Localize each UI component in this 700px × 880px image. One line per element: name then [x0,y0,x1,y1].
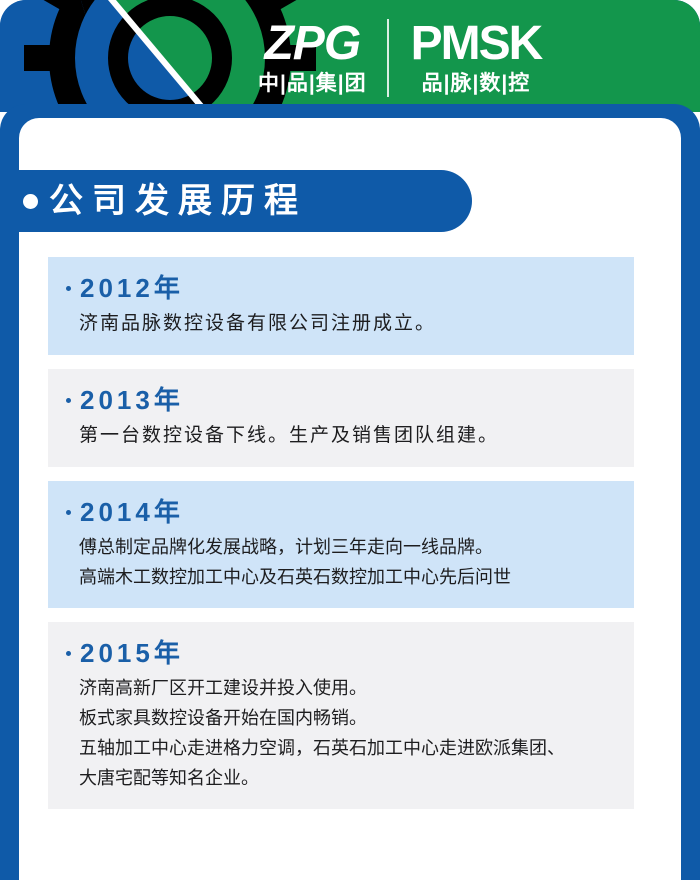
logo-pmsk-latin: PMSK [411,19,542,69]
page-title: 公司发展历程 [49,182,307,220]
timeline-year-row: 2014年 [66,495,616,529]
timeline-description-line: 济南高新厂区开工建设并投入使用。 [79,673,616,703]
logo-zpg-latin: ZPG [264,19,360,69]
timeline-year-row: 2015年 [66,636,616,670]
timeline-description-line: 第一台数控设备下线。生产及销售团队组建。 [79,420,616,451]
timeline-description-line: 五轴加工中心走进格力空调，石英石加工中心走进欧派集团、 [79,733,616,763]
timeline-card: 2012年济南品脉数控设备有限公司注册成立。 [48,257,634,355]
timeline-description-line: 大唐宅配等知名企业。 [79,763,616,793]
poster-root: ZPG 中|品|集|团 PMSK 品|脉|数|控 公司发展历程 2012年济南品… [0,0,700,880]
year-bullet-icon [66,286,71,291]
timeline-description: 傅总制定品牌化发展战略，计划三年走向一线品牌。高端木工数控加工中心及石英石数控加… [66,532,616,592]
header-banner: ZPG 中|品|集|团 PMSK 品|脉|数|控 [0,0,700,112]
timeline-card: 2014年傅总制定品牌化发展战略，计划三年走向一线品牌。高端木工数控加工中心及石… [48,481,634,608]
timeline-year-row: 2013年 [66,383,616,417]
timeline-description-line: 傅总制定品牌化发展战略，计划三年走向一线品牌。 [79,532,616,562]
timeline-year-label: 2014年 [80,495,184,529]
timeline-list: 2012年济南品脉数控设备有限公司注册成立。2013年第一台数控设备下线。生产及… [48,257,634,823]
year-bullet-icon [66,651,71,656]
timeline-card: 2013年第一台数控设备下线。生产及销售团队组建。 [48,369,634,467]
timeline-description-line: 济南品脉数控设备有限公司注册成立。 [79,308,616,339]
timeline-year-label: 2013年 [80,383,184,417]
timeline-year-label: 2015年 [80,636,184,670]
timeline-description: 济南品脉数控设备有限公司注册成立。 [66,308,616,339]
bullet-dot-icon [23,194,38,209]
logo-zpg-chinese: 中|品|集|团 [258,71,367,96]
year-bullet-icon [66,398,71,403]
timeline-description: 第一台数控设备下线。生产及销售团队组建。 [66,420,616,451]
timeline-description-line: 高端木工数控加工中心及石英石数控加工中心先后问世 [79,562,616,592]
logo-zpg: ZPG 中|品|集|团 [258,19,367,96]
timeline-description: 济南高新厂区开工建设并投入使用。板式家具数控设备开始在国内畅销。五轴加工中心走进… [66,673,616,793]
timeline-description-line: 板式家具数控设备开始在国内畅销。 [79,703,616,733]
section-title-pill: 公司发展历程 [0,170,472,232]
logo-pmsk-chinese: 品|脉|数|控 [422,71,531,96]
timeline-year-label: 2012年 [80,271,184,305]
timeline-card: 2015年济南高新厂区开工建设并投入使用。板式家具数控设备开始在国内畅销。五轴加… [48,622,634,809]
year-bullet-icon [66,510,71,515]
logo-divider [387,19,389,97]
timeline-year-row: 2012年 [66,271,616,305]
logo-pmsk: PMSK 品|脉|数|控 [411,19,542,96]
brand-logo-lockup: ZPG 中|品|集|团 PMSK 品|脉|数|控 [258,10,688,105]
